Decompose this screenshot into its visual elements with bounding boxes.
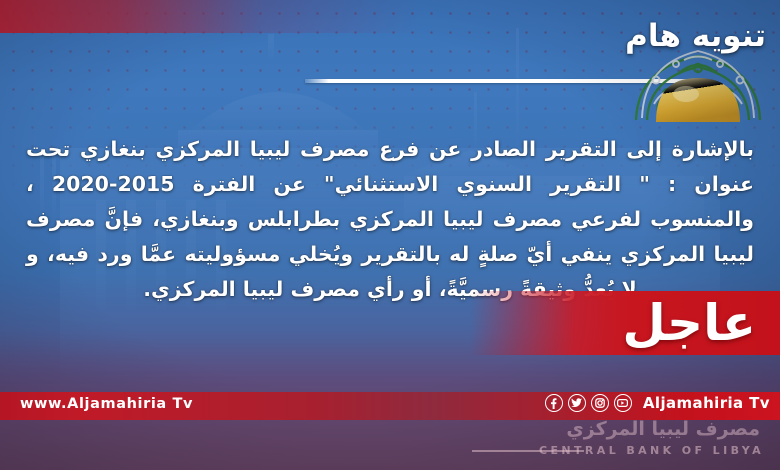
urgent-banner-label: عاجل (622, 292, 756, 354)
facebook-icon[interactable] (545, 394, 563, 412)
twitter-icon[interactable] (568, 394, 586, 412)
cbl-watermark-arabic: مصرف ليبيا المركزي (566, 418, 760, 440)
footer-social-group: Aljamahiria Tv (545, 394, 770, 412)
top-red-wash (0, 0, 420, 33)
header-title: تنويه هام (625, 18, 766, 54)
youtube-icon[interactable] (614, 394, 632, 412)
footer-handle[interactable]: Aljamahiria Tv (643, 394, 770, 412)
instagram-icon[interactable] (591, 394, 609, 412)
announcement-text: بالإشارة إلى التقرير الصادر عن فرع مصرف … (26, 132, 754, 307)
announcement-paragraph: بالإشارة إلى التقرير الصادر عن فرع مصرف … (26, 132, 754, 307)
news-graphic-frame: تنويه هام بالإشارة إلى التقرير الصادر عن… (0, 0, 780, 470)
cbl-watermark-english: CENTRAL BANK OF LIBYA (539, 444, 764, 457)
footer-website[interactable]: www.Aljamahiria Tv (20, 396, 193, 412)
